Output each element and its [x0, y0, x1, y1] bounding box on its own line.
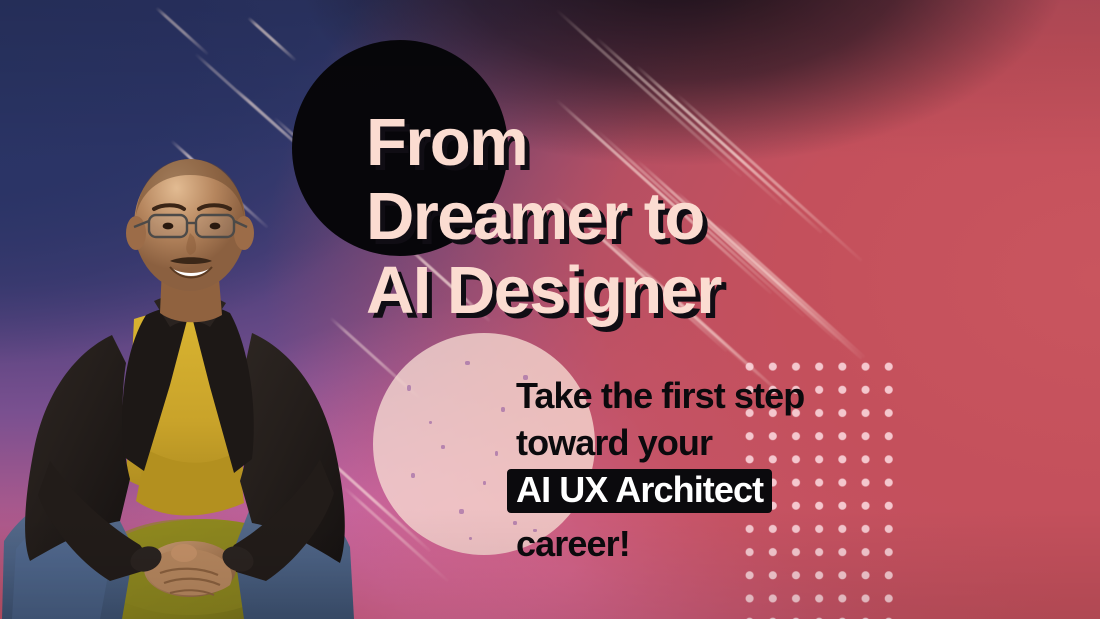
- subheadline-block: Take the first step toward your AI UX Ar…: [516, 372, 916, 567]
- poster-canvas: From Dreamer to AI Designer Take the fir…: [0, 0, 1100, 619]
- subheadline-line-4: career!: [516, 520, 916, 567]
- subheadline-highlight-line: AI UX Architect: [516, 466, 916, 514]
- subheadline-line-2: toward your: [516, 419, 916, 466]
- highlight-badge: AI UX Architect: [507, 469, 772, 513]
- page-title: From Dreamer to AI Designer: [366, 106, 836, 328]
- subheadline-line-1: Take the first step: [516, 372, 916, 419]
